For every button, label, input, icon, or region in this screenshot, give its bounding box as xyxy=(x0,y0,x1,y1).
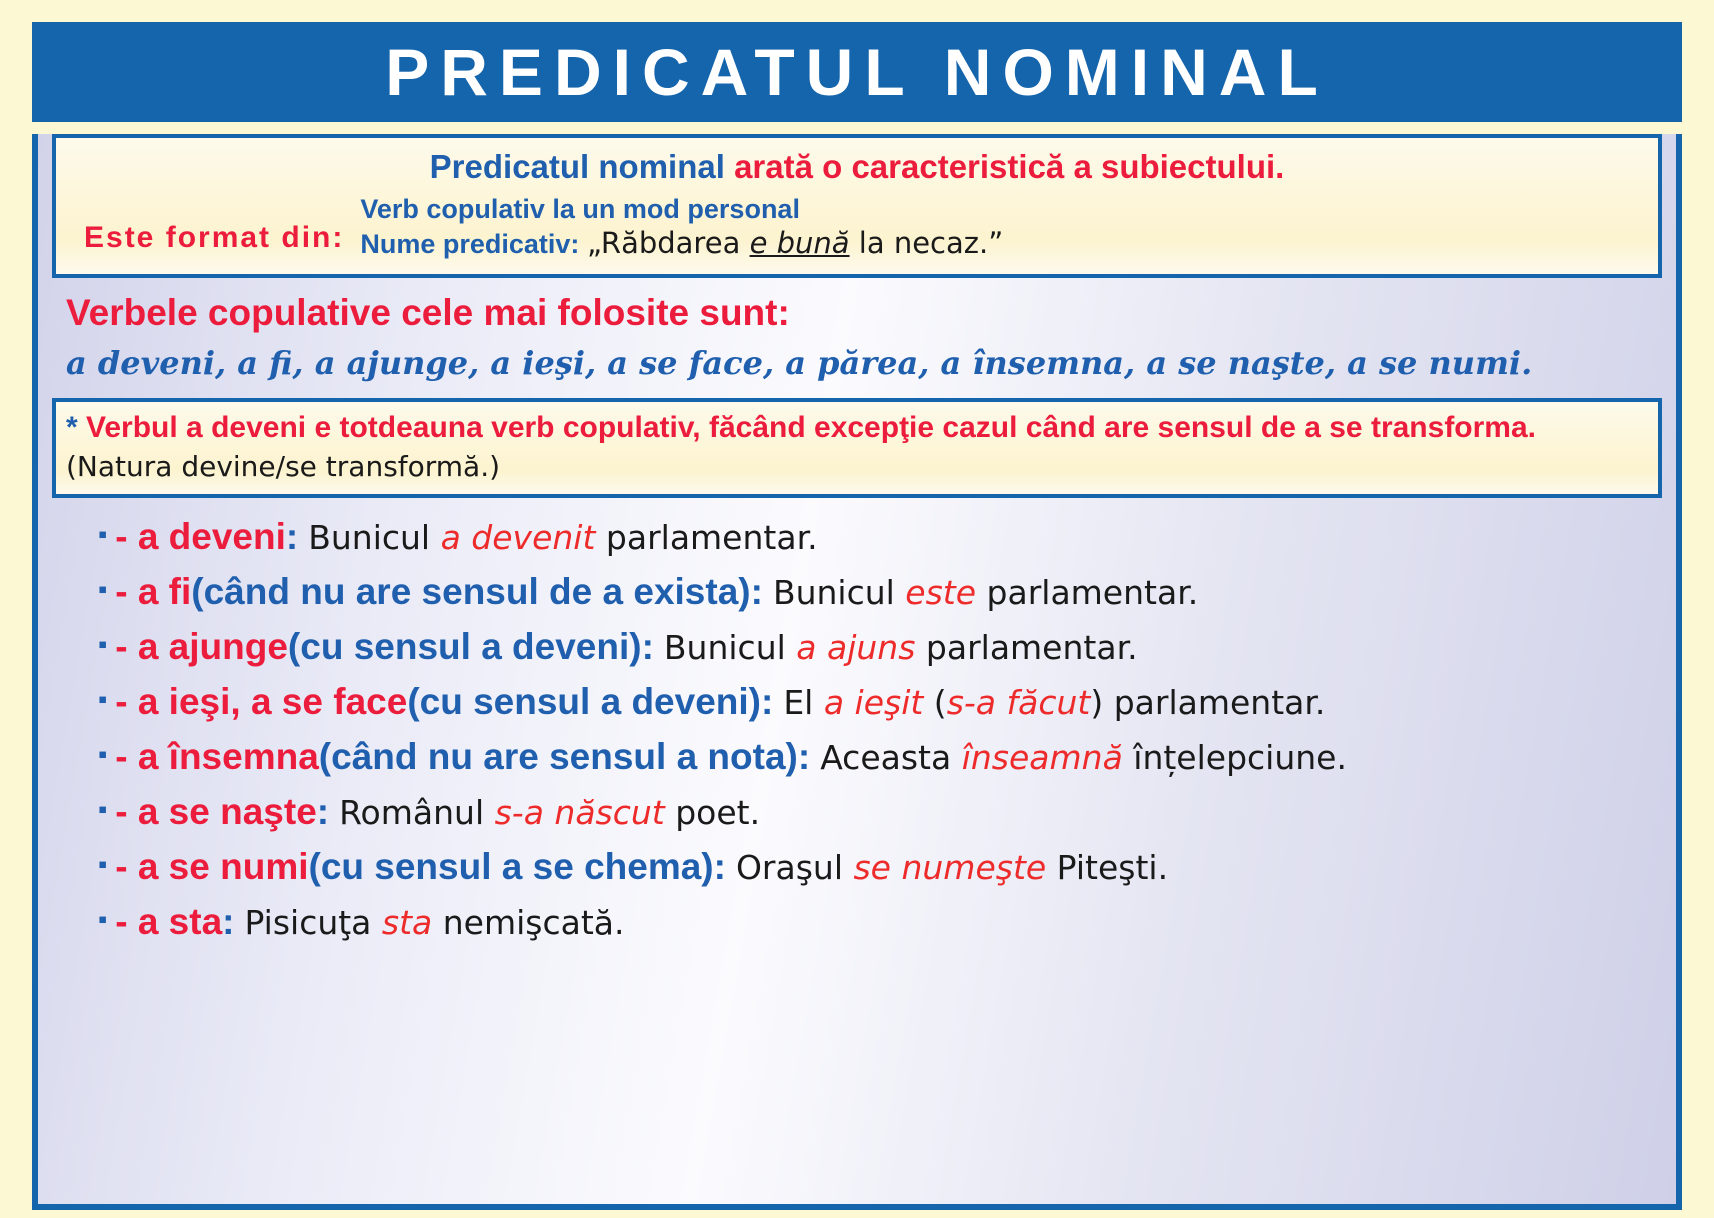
note-main-text: Verbul a deveni e totdeauna verb copulat… xyxy=(78,411,1536,444)
composition-item-verb: Verb copulativ la un mod personal xyxy=(360,193,1003,226)
sentence-before: Pisicuţa xyxy=(244,903,381,942)
sentence-after: ) parlamentar. xyxy=(1090,683,1325,722)
sentence-after: parlamentar. xyxy=(595,518,817,557)
sentence-after: înțelepciune. xyxy=(1123,738,1347,777)
example-sense: (cu sensul a deveni) xyxy=(407,681,761,723)
example-sentence: Românul s-a născut poet. xyxy=(339,793,760,832)
page-title: PREDICATUL NOMINAL xyxy=(385,39,1329,105)
sentence-after: nemişcată. xyxy=(432,903,624,942)
list-item: ▪ - a se numi (cu sensul a se chema): Or… xyxy=(98,846,1676,888)
sentence-paren-open: ( xyxy=(923,683,946,722)
example-verb: - a deveni xyxy=(115,516,286,558)
bullet-icon: ▪ xyxy=(98,521,107,547)
bullet-icon: ▪ xyxy=(98,851,107,877)
title-bar: PREDICATUL NOMINAL xyxy=(32,22,1682,122)
list-item: ▪ - a fi (când nu are sensul de a exista… xyxy=(98,571,1676,613)
definition-composition: Este format din: Verb copulativ la un mo… xyxy=(66,193,1648,261)
copulative-section: Verbele copulative cele mai folosite sun… xyxy=(38,278,1676,389)
quote-part-close: la necaz.” xyxy=(850,226,1004,260)
example-colon: : xyxy=(286,516,298,558)
example-verb: - a se naşte xyxy=(115,791,317,833)
bullet-icon: ▪ xyxy=(98,741,107,767)
list-item: ▪ - a ieşi, a se face (cu sensul a deven… xyxy=(98,681,1676,723)
list-item: ▪ - a deveni: Bunicul a devenit parlamen… xyxy=(98,516,1676,558)
example-colon: : xyxy=(761,681,773,723)
example-verb: - a ajunge xyxy=(115,626,288,668)
example-sense: (cu sensul a deveni) xyxy=(288,626,642,668)
sentence-before: Bunicul xyxy=(773,573,905,612)
sentence-before: Bunicul xyxy=(308,518,440,557)
sentence-highlight: înseamnă xyxy=(962,738,1123,777)
composition-item-name: Nume predicativ: „Răbdarea e bună la nec… xyxy=(360,226,1003,261)
definition-subject: Predicatul nominal xyxy=(430,148,734,185)
example-sentence: Bunicul a devenit parlamentar. xyxy=(308,518,817,557)
sentence-highlight: a ieşit xyxy=(824,683,923,722)
poster-body: Predicatul nominal arată o caracteristic… xyxy=(32,134,1682,1210)
sentence-before: Aceasta xyxy=(820,738,962,777)
bullet-icon: ▪ xyxy=(98,906,107,932)
example-verb: - a se numi xyxy=(115,846,308,888)
note-box: * Verbul a deveni e totdeauna verb copul… xyxy=(52,398,1662,498)
composition-label: Este format din: xyxy=(84,199,344,255)
example-sentence: Aceasta înseamnă înțelepciune. xyxy=(820,738,1347,777)
example-sense: (când nu are sensul a nota) xyxy=(319,736,798,778)
example-verb: - a fi xyxy=(115,571,191,613)
sentence-after: Piteşti. xyxy=(1046,848,1168,887)
sentence-before: Românul xyxy=(339,793,495,832)
list-item: ▪ - a sta: Pisicuţa sta nemişcată. xyxy=(98,901,1676,943)
example-quote: „Răbdarea e bună la necaz.” xyxy=(587,226,1003,260)
bullet-icon: ▪ xyxy=(98,686,107,712)
sentence-highlight-secondary: s-a făcut xyxy=(947,683,1091,722)
example-sentence: Bunicul a ajuns parlamentar. xyxy=(664,628,1138,667)
sentence-highlight: a devenit xyxy=(441,518,596,557)
sentence-highlight: este xyxy=(905,573,976,612)
composition-item-name-label: Nume predicativ: xyxy=(360,229,579,259)
definition-predicate: arată o caracteristică a subiectului. xyxy=(734,148,1284,185)
example-sentence: Bunicul este parlamentar. xyxy=(773,573,1198,612)
example-sense: (cu sensul a se chema) xyxy=(309,846,714,888)
bullet-icon: ▪ xyxy=(98,796,107,822)
example-colon: : xyxy=(317,791,329,833)
example-sense: (când nu are sensul de a exista) xyxy=(191,571,750,613)
example-sentence: Oraşul se numeşte Piteşti. xyxy=(736,848,1168,887)
example-sentence: Pisicuţa sta nemişcată. xyxy=(244,903,624,942)
example-verb: - a însemna xyxy=(115,736,319,778)
sentence-highlight: sta xyxy=(382,903,432,942)
note-text: * Verbul a deveni e totdeauna verb copul… xyxy=(66,408,1648,486)
sentence-before: Oraşul xyxy=(736,848,854,887)
examples-list: ▪ - a deveni: Bunicul a devenit parlamen… xyxy=(38,498,1676,943)
sentence-after: poet. xyxy=(665,793,760,832)
sentence-highlight: s-a născut xyxy=(495,793,665,832)
definition-box: Predicatul nominal arată o caracteristic… xyxy=(52,134,1662,278)
asterisk-icon: * xyxy=(66,411,78,444)
example-colon: : xyxy=(714,846,726,888)
example-sentence: El a ieşit (s-a făcut) parlamentar. xyxy=(783,683,1325,722)
quote-emphasis: e bună xyxy=(750,226,850,260)
sentence-highlight: a ajuns xyxy=(796,628,915,667)
copulative-verbs-list: a deveni, a fi, a ajunge, a ieşi, a se f… xyxy=(66,344,1676,382)
example-colon: : xyxy=(798,736,810,778)
bullet-icon: ▪ xyxy=(98,576,107,602)
note-parenthetical: (Natura devine/se transformă.) xyxy=(66,450,500,483)
composition-items: Verb copulativ la un mod personal Nume p… xyxy=(360,193,1003,261)
quote-part-open: „Răbdarea xyxy=(587,226,750,260)
example-verb: - a sta xyxy=(115,901,222,943)
bullet-icon: ▪ xyxy=(98,631,107,657)
sentence-highlight: se numeşte xyxy=(853,848,1046,887)
sentence-after: parlamentar. xyxy=(915,628,1137,667)
poster: PREDICATUL NOMINAL Predicatul nominal ar… xyxy=(32,22,1682,1198)
sentence-before: El xyxy=(783,683,824,722)
list-item: ▪ - a ajunge (cu sensul a deveni): Bunic… xyxy=(98,626,1676,668)
definition-headline: Predicatul nominal arată o caracteristic… xyxy=(66,146,1648,187)
example-colon: : xyxy=(642,626,654,668)
copulative-heading: Verbele copulative cele mai folosite sun… xyxy=(66,292,1676,335)
list-item: ▪ - a se naşte: Românul s-a născut poet. xyxy=(98,791,1676,833)
sentence-before: Bunicul xyxy=(664,628,796,667)
example-colon: : xyxy=(222,901,234,943)
example-verb: - a ieşi, a se face xyxy=(115,681,407,723)
sentence-after: parlamentar. xyxy=(976,573,1198,612)
list-item: ▪ - a însemna (când nu are sensul a nota… xyxy=(98,736,1676,778)
example-colon: : xyxy=(751,571,763,613)
